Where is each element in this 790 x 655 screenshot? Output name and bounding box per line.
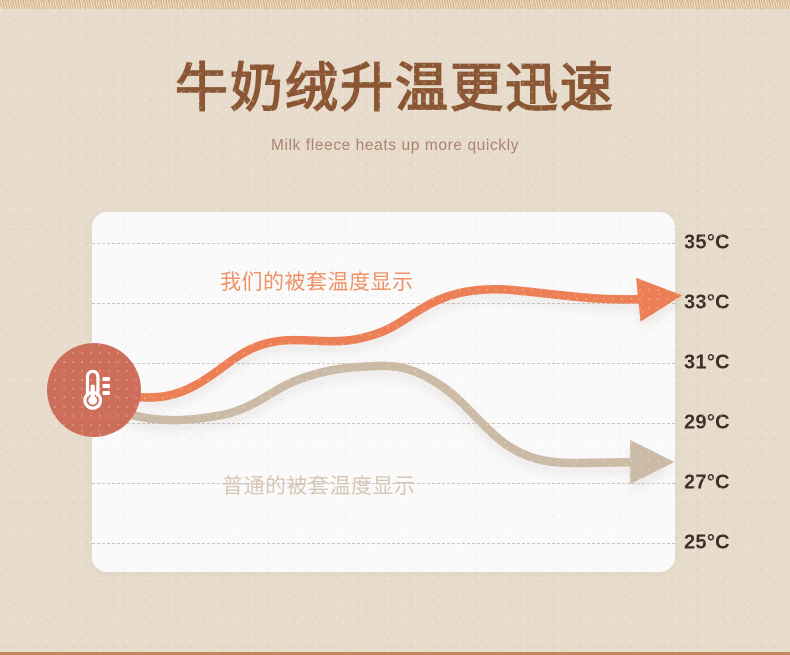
thermometer-badge	[47, 343, 141, 437]
gridline	[92, 543, 675, 544]
y-tick-label: 33°C	[684, 292, 730, 315]
top-texture-strip	[0, 0, 790, 9]
page-title: 牛奶绒升温更迅速	[0, 60, 790, 117]
infographic-page: 牛奶绒升温更迅速 Milk fleece heats up more quick…	[0, 0, 790, 655]
gridline	[92, 483, 675, 484]
gridline	[92, 423, 675, 424]
gridline	[92, 303, 675, 304]
gridline	[92, 243, 675, 244]
series-label-normal: 普通的被套温度显示	[222, 470, 416, 500]
chart-card	[92, 212, 675, 572]
y-tick-label: 27°C	[684, 472, 730, 495]
y-tick-label: 25°C	[684, 532, 730, 555]
thermometer-icon	[66, 362, 122, 418]
y-tick-label: 31°C	[684, 352, 730, 375]
gridline	[92, 363, 675, 364]
y-tick-label: 29°C	[684, 412, 730, 435]
y-tick-label: 35°C	[684, 232, 730, 255]
series-label-ours: 我们的被套温度显示	[220, 266, 414, 296]
page-subtitle: Milk fleece heats up more quickly	[0, 137, 790, 155]
heading-block: 牛奶绒升温更迅速 Milk fleece heats up more quick…	[0, 60, 790, 155]
series-line-normal	[128, 366, 648, 463]
series-line-ours	[126, 289, 656, 397]
